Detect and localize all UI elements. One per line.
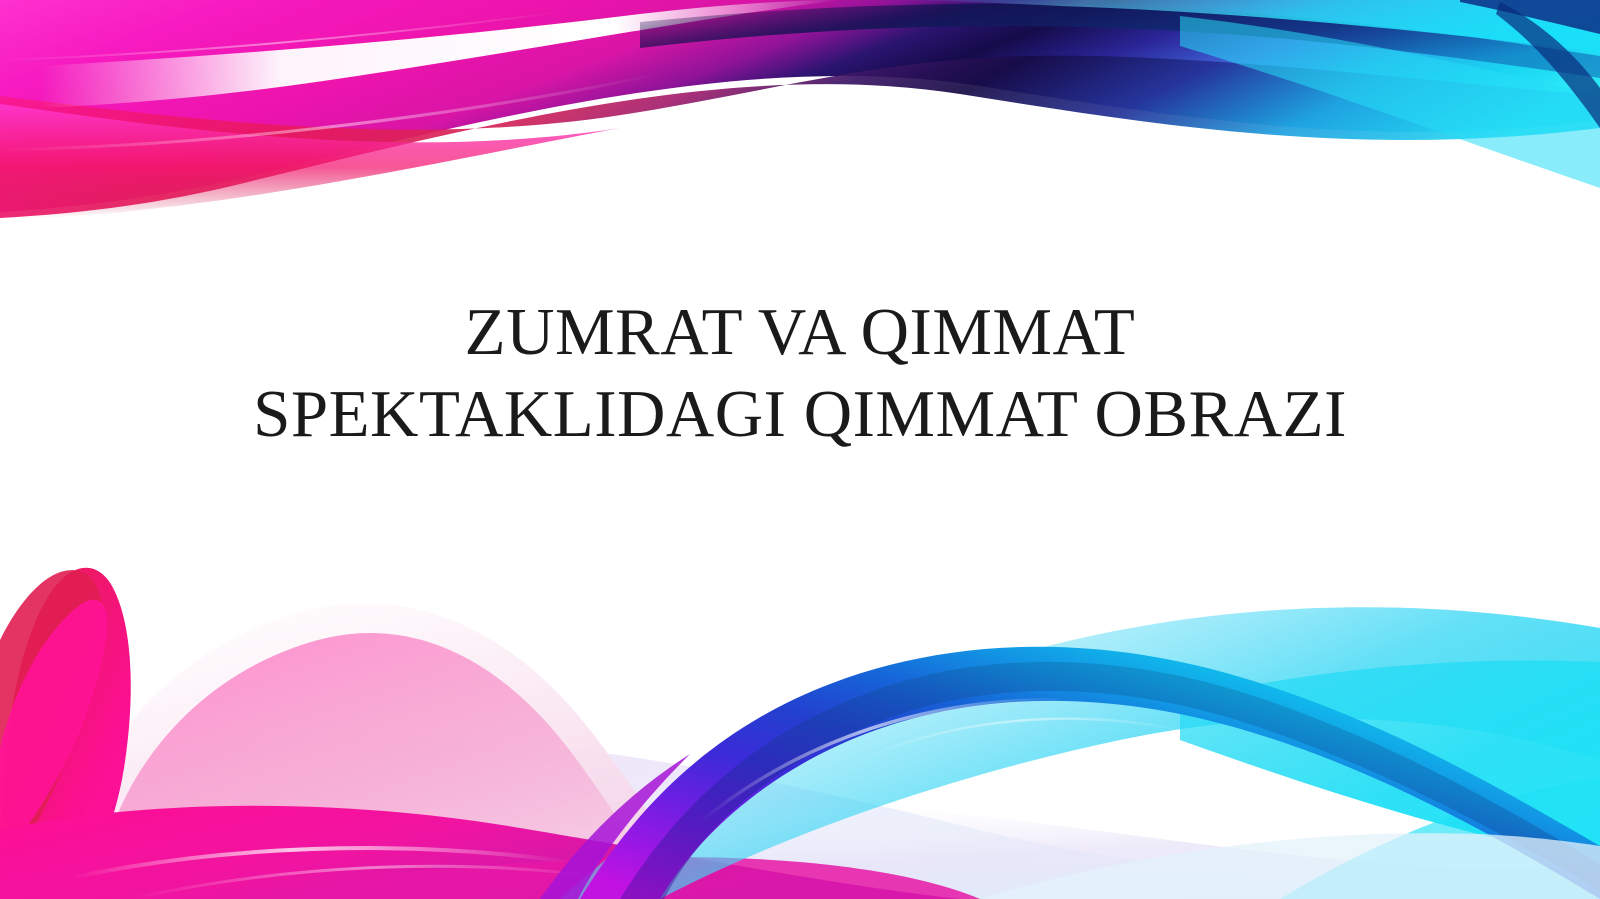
- title-line-1: ZUMRAT VA QIMMAT: [60, 292, 1540, 374]
- top-wave-group: [0, 0, 1600, 219]
- title-line-2: SPEKTAKLIDAGI QIMMAT OBRAZI: [60, 374, 1540, 456]
- slide-title: ZUMRAT VA QIMMAT SPEKTAKLIDAGI QIMMAT OB…: [0, 292, 1600, 455]
- title-slide: ZUMRAT VA QIMMAT SPEKTAKLIDAGI QIMMAT OB…: [0, 0, 1600, 899]
- bottom-wave-group: [0, 568, 1600, 899]
